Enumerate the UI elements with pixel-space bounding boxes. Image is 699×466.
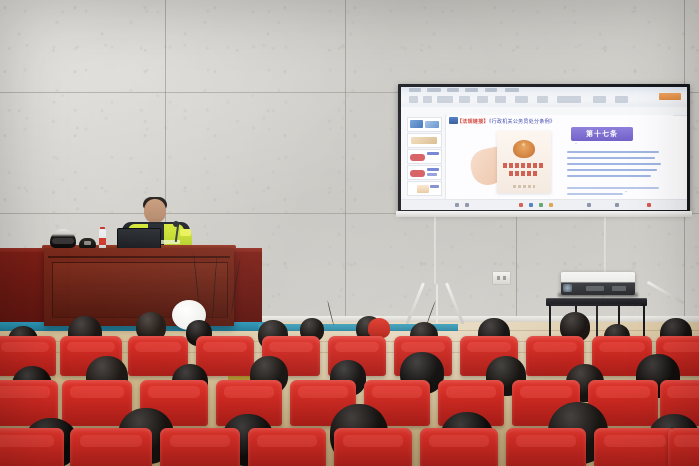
- podium-molding: [48, 256, 230, 258]
- ribbon-tool-icon[interactable]: [477, 96, 488, 103]
- slide-body-line: [567, 187, 659, 189]
- ribbon-tab-row: [401, 87, 687, 93]
- ribbon-tool-icon[interactable]: [515, 96, 528, 103]
- ribbon-tab[interactable]: [485, 88, 497, 92]
- ribbon-tool-icon[interactable]: [593, 96, 606, 103]
- projector-vent: [586, 286, 604, 291]
- auditorium-seat: [506, 428, 586, 466]
- ribbon-tool-icon[interactable]: [437, 96, 453, 103]
- audience-member-cap: [368, 318, 390, 338]
- ribbon-tab[interactable]: [427, 88, 441, 92]
- slide-thumbnail-panel[interactable]: [401, 115, 446, 210]
- slide-thumbnail[interactable]: [407, 165, 442, 180]
- taskbar-icon[interactable]: [615, 203, 619, 207]
- microphone-icon: [173, 221, 179, 227]
- ribbon-tool-icon[interactable]: [537, 96, 548, 103]
- slide-body-line: [567, 175, 651, 177]
- taskbar-icon[interactable]: [549, 203, 553, 207]
- wall-power-outlet: [492, 271, 511, 285]
- projector-vent: [612, 286, 626, 291]
- auditorium-seat: [70, 428, 152, 466]
- cap-badge-icon: [84, 241, 91, 245]
- ribbon-tab[interactable]: [409, 88, 421, 92]
- helmet-visor: [52, 238, 74, 244]
- slide-thumbnail[interactable]: [407, 149, 442, 164]
- booklet-publisher-line: [513, 185, 535, 188]
- slide-body-line: [567, 193, 623, 195]
- taskbar-icon[interactable]: [647, 203, 651, 207]
- ribbon-tab[interactable]: [505, 88, 519, 92]
- slide-header-title: 《行政机关公务员处分条例》: [489, 119, 555, 125]
- ribbon-tool-icon[interactable]: [557, 96, 581, 103]
- slide-body-line: [567, 151, 659, 153]
- screen-stand-pole: [434, 216, 436, 284]
- tripod-leg: [436, 284, 438, 324]
- ribbon-tab[interactable]: [447, 88, 459, 92]
- powerpoint-ribbon: [401, 87, 687, 108]
- article-banner: 第十七条: [571, 127, 633, 141]
- screen-bottom-bar: [396, 211, 692, 217]
- status-icon[interactable]: [455, 203, 459, 207]
- taskbar-icon[interactable]: [539, 203, 543, 207]
- status-icon[interactable]: [465, 203, 469, 207]
- ribbon-tool-icon[interactable]: [495, 96, 506, 103]
- wall-grout-line: [516, 213, 517, 322]
- auditorium-seat: [196, 336, 254, 376]
- slide-header: 【法规链接】《行政机关公务员处分条例》: [457, 118, 555, 125]
- ribbon-tool-icon[interactable]: [409, 96, 418, 103]
- bottle-label: [99, 238, 106, 245]
- taskbar-icon[interactable]: [529, 203, 533, 207]
- projector-lens-icon: [563, 284, 572, 292]
- screen-stand-pole: [604, 216, 606, 278]
- ribbon-tool-icon[interactable]: [459, 96, 470, 103]
- slide-body-line: [567, 157, 655, 159]
- booklet-title-line-2: [509, 171, 539, 176]
- auditorium-seat: [248, 428, 326, 466]
- ribbon-action-button[interactable]: [659, 93, 681, 100]
- wall-grout-line: [345, 0, 346, 322]
- quote-open-mark: “: [575, 143, 577, 149]
- slide-thumbnail[interactable]: [407, 117, 442, 132]
- article-banner-label: 第十七条: [586, 129, 618, 139]
- slide-canvas: 【法规链接】《行政机关公务员处分条例》 第十七条 “ ”: [447, 115, 673, 199]
- ribbon-tool-icon[interactable]: [615, 96, 628, 103]
- booklet-title-line-1: [503, 163, 545, 168]
- auditorium-seat: [334, 428, 412, 466]
- projection-screen-surface: 【法规链接】《行政机关公务员处分条例》 第十七条 “ ”: [401, 87, 687, 210]
- taskbar-icon[interactable]: [519, 203, 523, 207]
- ribbon-tab[interactable]: [465, 88, 478, 92]
- slide-body-line: [567, 169, 657, 171]
- lecture-hall-screenshot: 【法规链接】《行政机关公务员处分条例》 第十七条 “ ”: [0, 0, 699, 466]
- slide-body-line: [567, 163, 661, 165]
- auditorium-seat: [420, 428, 498, 466]
- taskbar-icon[interactable]: [587, 203, 591, 207]
- status-bar: [401, 199, 687, 210]
- auditorium-seat: [0, 428, 64, 466]
- slide-thumbnail[interactable]: [407, 181, 442, 196]
- national-emblem-icon: [513, 140, 535, 158]
- auditorium-seat: [160, 428, 240, 466]
- slide-thumbnail[interactable]: [407, 133, 442, 148]
- auditorium-seat: [594, 428, 676, 466]
- quote-close-mark: ”: [625, 191, 627, 197]
- projector: [561, 272, 635, 295]
- speaker-shoulder-patch: [180, 229, 191, 236]
- auditorium-seat: [668, 428, 699, 466]
- slide-header-prefix: 【法规链接】: [457, 119, 489, 125]
- ribbon-tool-icon[interactable]: [423, 96, 432, 103]
